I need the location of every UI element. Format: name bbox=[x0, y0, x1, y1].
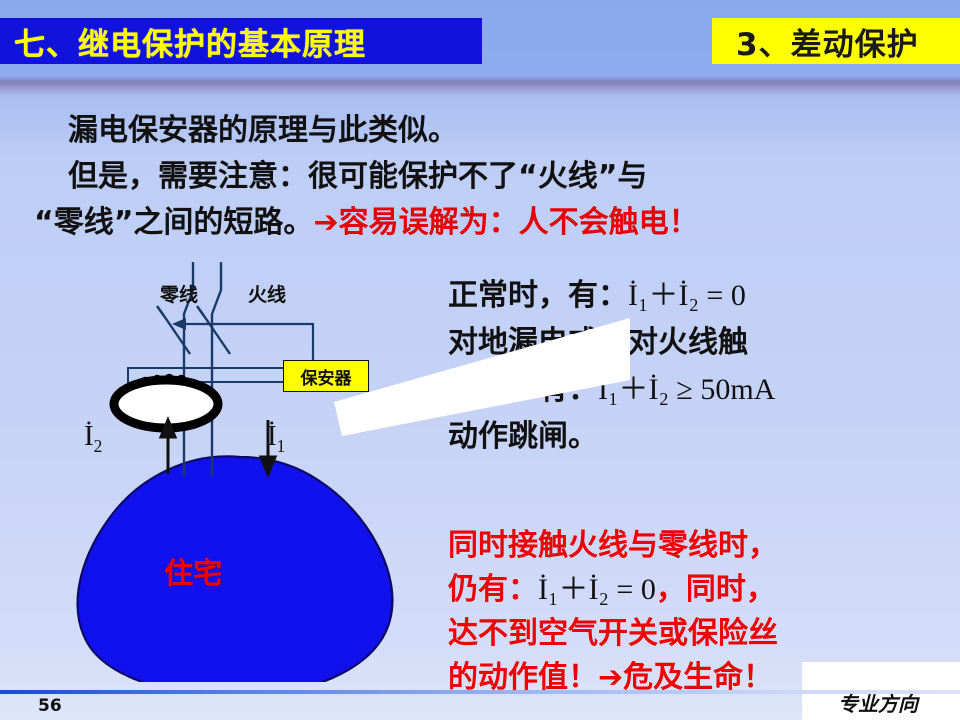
warning-row-2: 仍有：İ₁＋İ₂ = 0，同时， bbox=[448, 568, 948, 612]
subsection-title-text: 3、差动保护 bbox=[736, 19, 919, 64]
rcd-circuit-diagram: 零线 火线 保安器 住宅 İ2 İ1 bbox=[60, 262, 430, 682]
subsection-title-banner: 3、差动保护 bbox=[712, 18, 960, 64]
live-wire-label: 火线 bbox=[248, 280, 286, 307]
formula-row-normal-text: 正常时，有： bbox=[448, 278, 628, 313]
current-symbol-i1: İ bbox=[267, 420, 277, 452]
neutral-contact-stub bbox=[157, 306, 164, 316]
paragraph-line-3-black: “零线”之间的短路。 bbox=[34, 205, 313, 240]
red-arrow-icon: ➔ bbox=[313, 205, 338, 240]
warning-row-2-prefix: 仍有： bbox=[448, 572, 538, 607]
warning-row-2-suffix: ，同时， bbox=[656, 572, 776, 607]
paragraph-line-2: 但是，需要注意：很可能保护不了“火线”与 bbox=[34, 154, 934, 200]
section-title-banner: 七、继电保护的基本原理 bbox=[0, 18, 482, 64]
current-arrow-i2 bbox=[161, 420, 175, 474]
formula-block-black: 正常时，有：İ₁＋İ₂ = 0 对地漏电或仅对火线触 电时，有：İ₁＋İ₂ ≥ … bbox=[448, 272, 948, 460]
current-subscript-i1: 1 bbox=[277, 436, 286, 456]
formula-row-trip: 电时，有：İ₁＋İ₂ ≥ 50mA bbox=[448, 366, 948, 413]
paragraph-line-3-red: 容易误解为：人不会触电！ bbox=[339, 205, 699, 240]
warning-row-1: 同时接触火线与零线时， bbox=[448, 524, 948, 568]
trip-arrow-head bbox=[172, 318, 186, 330]
live-switch-contact bbox=[200, 310, 230, 354]
dwelling-label: 住宅 bbox=[164, 550, 222, 592]
formula-row-leakage: 对地漏电或仅对火线触 bbox=[448, 319, 948, 366]
current-label-i1: İ1 bbox=[267, 420, 285, 457]
section-title-text: 七、继电保护的基本原理 bbox=[14, 19, 366, 64]
current-label-i2: İ2 bbox=[84, 420, 102, 457]
formula-row-normal-math: İ₁＋İ₂ = 0 bbox=[628, 279, 746, 312]
neutral-switch-contact bbox=[160, 310, 190, 354]
formula-row-trip-text: 电时，有： bbox=[448, 372, 598, 407]
current-symbol-i2: İ bbox=[84, 420, 94, 452]
slide-canvas: 七、继电保护的基本原理 3、差动保护 漏电保安器的原理与此类似。 但是，需要注意… bbox=[0, 0, 960, 720]
footer-divider-rule bbox=[0, 690, 960, 694]
paragraph-line-1: 漏电保安器的原理与此类似。 bbox=[34, 108, 934, 154]
formula-row-normal: 正常时，有：İ₁＋İ₂ = 0 bbox=[448, 272, 948, 319]
trip-signal-line bbox=[184, 324, 313, 360]
live-contact-stub bbox=[197, 306, 204, 316]
warning-row-2-math: İ₁＋İ₂ = 0 bbox=[538, 573, 656, 606]
body-paragraph: 漏电保安器的原理与此类似。 但是，需要注意：很可能保护不了“火线”与 “零线”之… bbox=[34, 108, 934, 246]
formula-row-action: 动作跳闸。 bbox=[448, 413, 948, 460]
footer-org-label: 专业方向 bbox=[838, 688, 918, 717]
paragraph-line-3: “零线”之间的短路。➔容易误解为：人不会触电！ bbox=[34, 200, 934, 246]
protector-device-box: 保安器 bbox=[283, 360, 369, 392]
page-number: 56 bbox=[38, 696, 62, 716]
warning-row-3: 达不到空气开关或保险丝 bbox=[448, 612, 948, 656]
formula-row-trip-math: İ₁＋İ₂ ≥ 50mA bbox=[598, 373, 775, 406]
current-subscript-i2: 2 bbox=[94, 436, 103, 456]
dwelling-shape bbox=[78, 456, 393, 682]
neutral-wire-label: 零线 bbox=[160, 280, 198, 307]
circuit-schematic-svg bbox=[60, 262, 430, 682]
